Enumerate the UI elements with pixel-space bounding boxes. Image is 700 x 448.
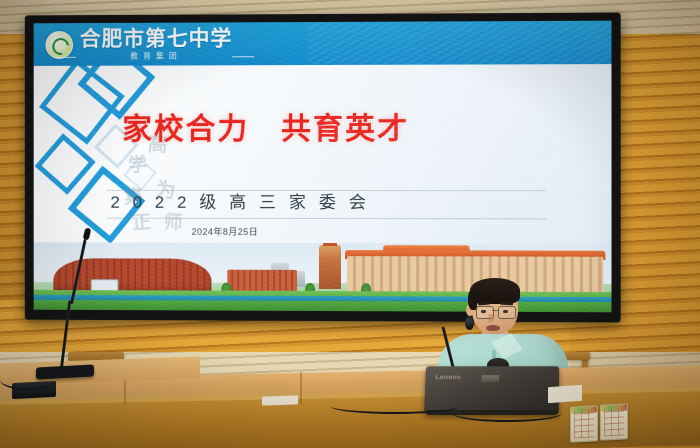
eyeglasses-icon — [498, 306, 516, 319]
slide-header-bar: 合肥市第七中学 教育集团 — [34, 21, 612, 66]
desk-seam — [300, 372, 302, 404]
slide-title-right: 共育英才 — [281, 113, 409, 146]
card-holder-grid — [604, 407, 624, 436]
desk-card-holder — [570, 405, 598, 442]
microphone-cable — [0, 370, 56, 390]
school-emblem-icon — [45, 31, 73, 59]
slide-main-title: 家校合力共育英才 — [122, 104, 409, 148]
slide-date: 2024年8月25日 — [192, 225, 259, 238]
desk-paper — [262, 395, 298, 405]
laptop-badge — [481, 375, 499, 382]
laptop-brand-label: Lenovo — [435, 374, 461, 381]
desk-cable — [330, 398, 460, 414]
desk-card-holder — [600, 403, 628, 440]
microphone-right-head — [465, 316, 474, 330]
school-identity: 合肥市第七中学 教育集团 — [80, 28, 232, 60]
eyeglasses-icon — [492, 310, 498, 311]
card-holder-grid — [574, 409, 594, 438]
speaker-hair — [470, 278, 520, 304]
campus-mid-building — [227, 270, 297, 292]
slide-subtitle: 2022级高三家委会 — [110, 188, 378, 213]
desk-cable — [452, 404, 562, 422]
campus-tower — [319, 245, 341, 289]
screenshot-scene: 学 高 集 为 正 师 合肥市第七中学 教育集团 家校合力共育英才 2022级高… — [0, 0, 700, 448]
speaker-mouth — [486, 325, 500, 331]
desk-paper — [548, 385, 582, 403]
slide-title-left: 家校合力 — [122, 113, 249, 146]
speaker-nose — [488, 314, 494, 323]
school-subtitle: 教育集团 — [80, 52, 232, 60]
school-name: 合肥市第七中学 — [80, 28, 232, 50]
